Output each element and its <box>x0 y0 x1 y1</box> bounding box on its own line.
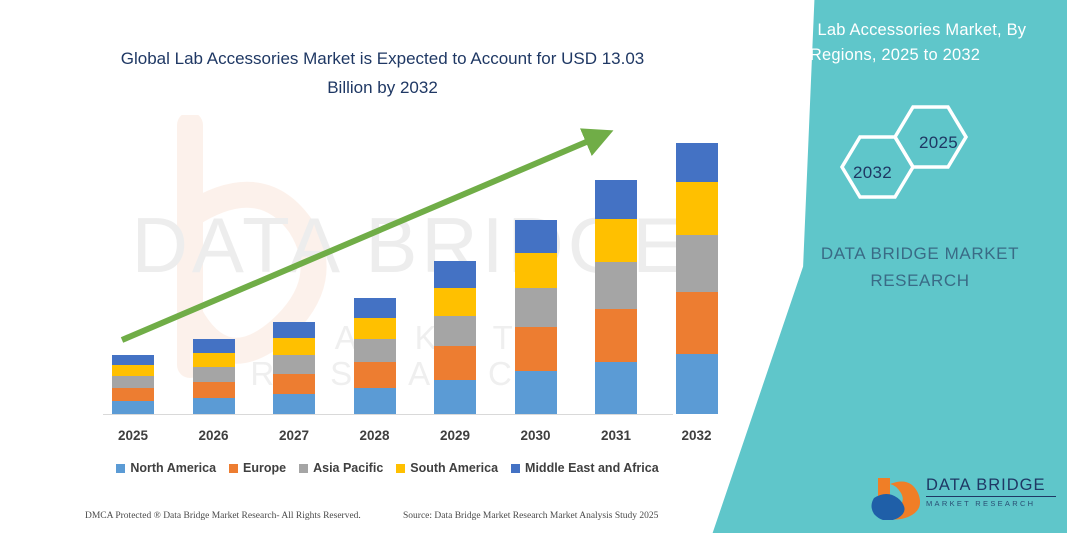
hexagon-year-group: 2025 2032 <box>820 104 1010 204</box>
legend-label: North America <box>130 461 216 475</box>
logo-main-text: DATA BRIDGE <box>926 476 1056 497</box>
chart-plot-area: 20252026202720282029203020312032 <box>0 0 690 533</box>
legend-label: Asia Pacific <box>313 461 383 475</box>
footer-source: Source: Data Bridge Market Research Mark… <box>403 511 658 521</box>
legend-swatch-icon <box>299 464 308 473</box>
panel-brand-line-1: DATA BRIDGE MARKET <box>780 240 1060 267</box>
logo-text-block: DATA BRIDGE MARKET RESEARCH <box>926 476 1056 510</box>
legend-item[interactable]: Asia Pacific <box>299 461 383 475</box>
data-bridge-b-mark-icon <box>868 474 924 520</box>
logo-sub-text: MARKET RESEARCH <box>926 497 1056 510</box>
legend-label: Europe <box>243 461 286 475</box>
legend-swatch-icon <box>396 464 405 473</box>
legend-swatch-icon <box>511 464 520 473</box>
panel-brand-name: DATA BRIDGE MARKET RESEARCH <box>780 240 1060 294</box>
growth-trend-arrow-icon <box>0 0 690 533</box>
footer-copyright: DMCA Protected ® Data Bridge Market Rese… <box>85 511 361 521</box>
legend-item[interactable]: South America <box>396 461 498 475</box>
panel-brand-line-2: RESEARCH <box>780 267 1060 294</box>
infographic-slide: DATA BRIDGE MARKET RESEARCH Global Lab A… <box>0 0 1067 533</box>
hexagon-2032-label: 2032 <box>853 163 892 183</box>
company-logo: DATA BRIDGE MARKET RESEARCH <box>868 474 1058 522</box>
legend-label: South America <box>410 461 498 475</box>
legend-item[interactable]: Middle East and Africa <box>511 461 659 475</box>
panel-title: Global Lab Accessories Market, By Region… <box>735 18 1055 68</box>
legend-label: Middle East and Africa <box>525 461 659 475</box>
hexagon-2025-label: 2025 <box>919 133 958 153</box>
legend-item[interactable]: Europe <box>229 461 286 475</box>
legend-swatch-icon <box>116 464 125 473</box>
legend-item[interactable]: North America <box>116 461 216 475</box>
chart-legend: North AmericaEuropeAsia PacificSouth Ame… <box>100 461 675 475</box>
legend-swatch-icon <box>229 464 238 473</box>
hexagon-outlines-icon <box>820 104 1010 204</box>
